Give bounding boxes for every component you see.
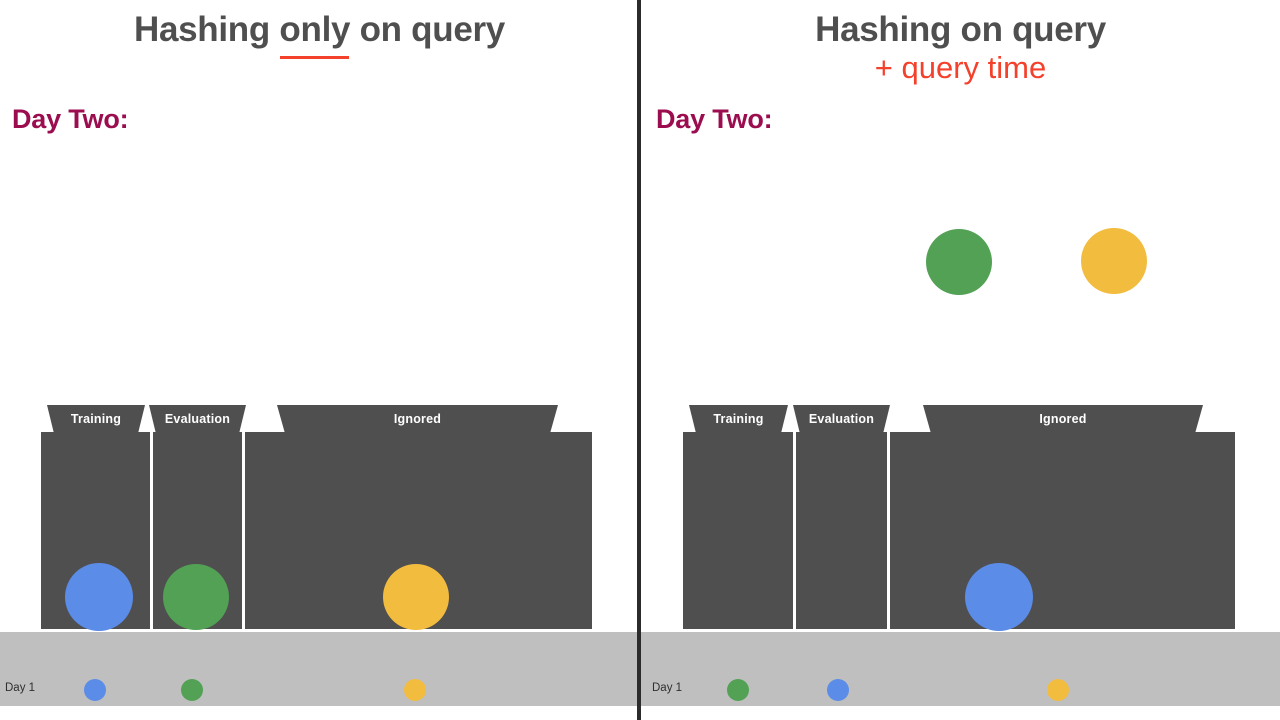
floating-ball-yellow bbox=[1081, 228, 1147, 294]
panel-right-day-label: Day Two: bbox=[656, 103, 772, 135]
funnel-evaluation: Evaluation bbox=[149, 405, 246, 433]
funnel-label: Evaluation bbox=[809, 412, 874, 426]
funnel-label: Ignored bbox=[1039, 412, 1086, 426]
timeline-dot-yellow bbox=[404, 679, 426, 701]
timeline-dot-blue bbox=[84, 679, 106, 701]
timeline-dot-blue bbox=[827, 679, 849, 701]
panel-left-timeline-label: Day 1 bbox=[5, 681, 35, 695]
timeline-dot-green bbox=[181, 679, 203, 701]
bin-ignored bbox=[890, 432, 1235, 629]
funnel-training: Training bbox=[689, 405, 788, 433]
title-left-post: on query bbox=[350, 10, 505, 49]
panel-left: Hashing only on query Day Two: TrainingE… bbox=[0, 0, 639, 720]
funnel-ignored: Ignored bbox=[923, 405, 1203, 433]
red-underline-rule bbox=[280, 56, 349, 59]
funnel-ignored: Ignored bbox=[277, 405, 558, 433]
funnel-label: Training bbox=[71, 412, 121, 426]
funnel-evaluation: Evaluation bbox=[793, 405, 890, 433]
title-right-pre: Hashing on query bbox=[815, 10, 1106, 49]
panel-right: Hashing on query + query time Day Two: T… bbox=[641, 0, 1280, 720]
panel-right-title: Hashing on query bbox=[641, 10, 1280, 50]
bin-ball-green bbox=[163, 564, 229, 630]
floating-ball-green bbox=[926, 229, 992, 295]
title-left-underlined-text: only bbox=[279, 10, 350, 49]
bin-ball-blue bbox=[65, 563, 133, 631]
funnel-label: Training bbox=[713, 412, 763, 426]
title-left-pre: Hashing bbox=[134, 10, 279, 49]
timeline-dot-yellow bbox=[1047, 679, 1069, 701]
bin-ball-yellow bbox=[383, 564, 449, 630]
funnel-training: Training bbox=[47, 405, 145, 433]
panel-left-day-label: Day Two: bbox=[12, 103, 128, 135]
panel-right-timeline-label: Day 1 bbox=[652, 681, 682, 695]
panel-right-subtitle: + query time bbox=[641, 50, 1280, 86]
panel-left-title: Hashing only on query bbox=[0, 10, 639, 50]
slide-canvas: Hashing only on query Day Two: TrainingE… bbox=[0, 0, 1280, 720]
funnel-label: Ignored bbox=[394, 412, 441, 426]
timeline-dot-green bbox=[727, 679, 749, 701]
bin-evaluation bbox=[796, 432, 887, 629]
bin-training bbox=[683, 432, 793, 629]
title-left-underlined-word: only bbox=[279, 10, 350, 50]
funnel-label: Evaluation bbox=[165, 412, 230, 426]
bin-ball-blue bbox=[965, 563, 1033, 631]
